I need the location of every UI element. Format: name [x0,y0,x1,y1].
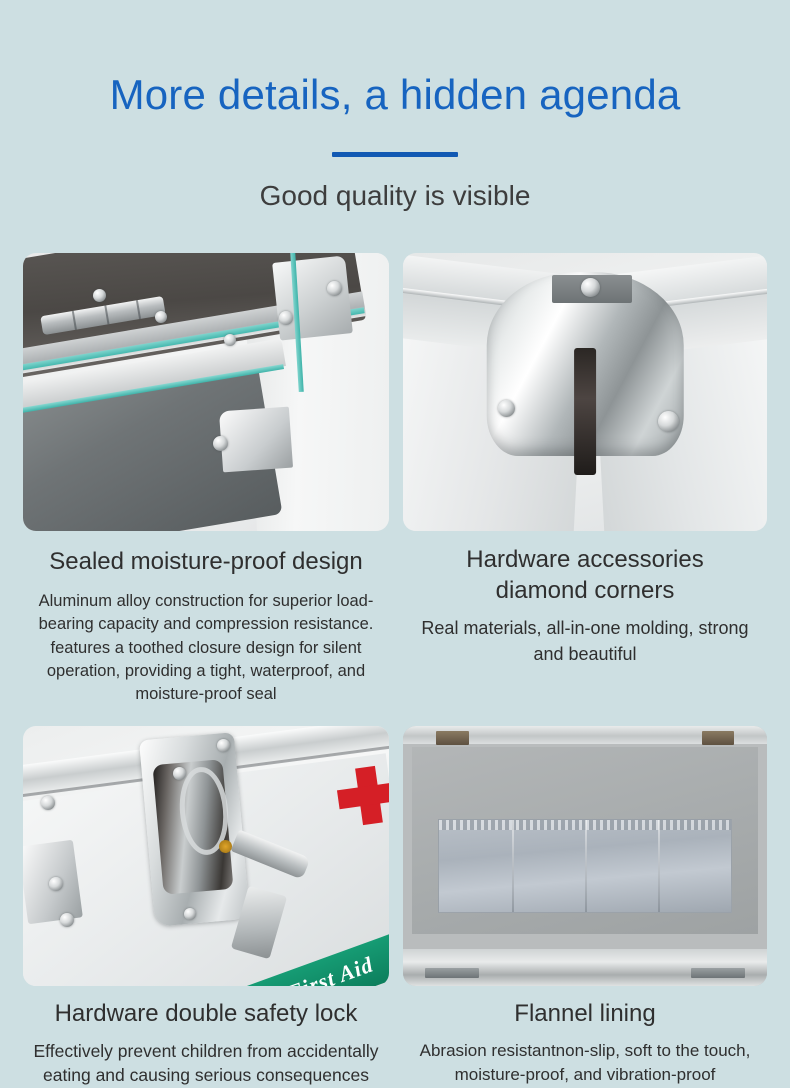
rivet-icon [184,908,196,920]
feature-card-sealed-moisture-proof[interactable]: Sealed moisture-proof design Aluminum al… [23,253,389,707]
pocket-pleat [512,820,514,912]
lid-stay-clip [702,731,735,745]
photo-safety-lock: First Aid [23,726,389,986]
caption-double-safety-lock: Hardware double safety lock Effectively … [23,986,389,1088]
feature-title: Flannel lining [514,986,655,1030]
feature-description: Real materials, all-in-one molding, stro… [421,606,749,667]
photo-diamond-corner [403,253,767,531]
lid-stay-clip [436,731,469,745]
corner-bracket-bottom-right [219,406,293,472]
title-divider-wrap [0,116,790,157]
feature-row-2: First Aid Hardware double safety lock Ef… [0,726,790,1088]
rivet-icon [217,739,230,752]
rivet-icon [49,877,63,891]
pocket-pleat [585,820,587,912]
feature-grid: Sealed moisture-proof design Aluminum al… [0,253,790,1088]
caption-diamond-corners: Hardware accessories diamond corners Rea… [403,531,767,668]
photo-sealed-hinge [23,253,389,531]
feature-card-double-safety-lock[interactable]: First Aid Hardware double safety lock Ef… [23,726,389,1088]
page-subtitle: Good quality is visible [0,157,790,212]
rivet-icon [93,289,106,302]
feature-description: Abrasion resistantnon-slip, soft to the … [405,1030,765,1087]
feature-title: Sealed moisture-proof design [49,531,363,578]
feature-title: Hardware accessories diamond corners [443,531,727,606]
page-title: More details, a hidden agenda [0,0,790,116]
caption-flannel-lining: Flannel lining Abrasion resistantnon-sli… [403,986,767,1087]
feature-description: Effectively prevent children from accide… [25,1030,387,1088]
title-divider [332,152,458,157]
feature-card-diamond-corners[interactable]: Hardware accessories diamond corners Rea… [403,253,767,707]
corner-bracket-top-right [272,255,353,340]
caption-sealed-moisture-proof: Sealed moisture-proof design Aluminum al… [23,531,389,707]
lid-hinge-bracket [425,968,480,978]
feature-description: Aluminum alloy construction for superior… [30,578,381,707]
feature-card-flannel-lining[interactable]: Flannel lining Abrasion resistantnon-sli… [403,726,767,1088]
lid-hinge-bracket [691,968,746,978]
photo-flannel-lining [403,726,767,986]
corner-seam [574,348,596,476]
rivet-icon [498,400,515,417]
feature-title: Hardware double safety lock [55,986,358,1030]
red-cross-icon [334,763,389,828]
rivet-icon [327,281,342,296]
page-header: More details, a hidden agenda Good quali… [0,0,790,212]
pocket-pleat [658,820,660,912]
flannel-elastic-pocket [438,819,733,913]
feature-row-1: Sealed moisture-proof design Aluminum al… [0,253,790,707]
rivet-icon [60,913,74,927]
rivet-icon [224,334,236,346]
